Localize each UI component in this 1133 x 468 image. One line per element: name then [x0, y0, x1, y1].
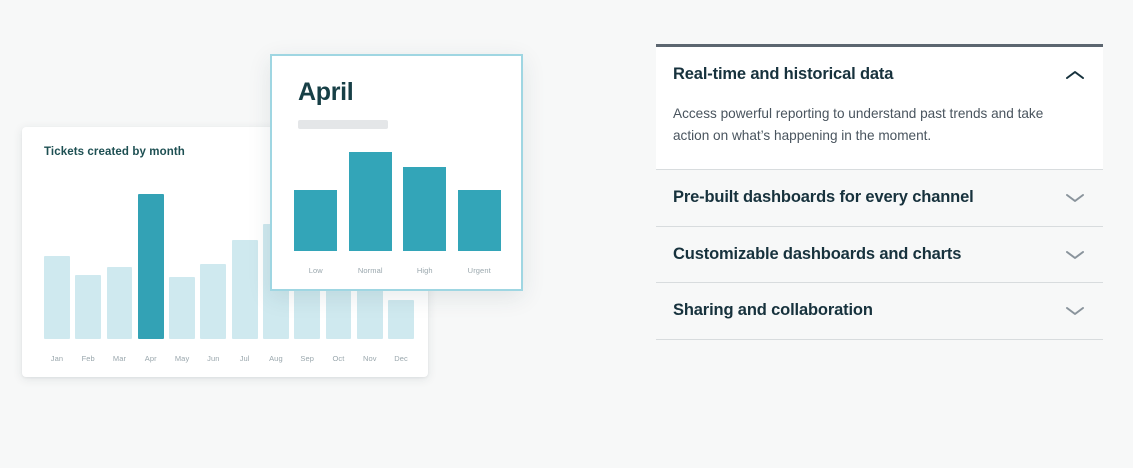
axis-label-apr: Apr [138, 354, 164, 363]
bar-jun [200, 264, 226, 339]
accordion-title: Pre-built dashboards for every channel [673, 188, 974, 208]
axis-label-mar: Mar [107, 354, 133, 363]
axis-label-normal: Normal [349, 266, 392, 275]
bar-slot [169, 187, 195, 339]
accordion-header-4[interactable]: Sharing and collaboration [656, 283, 1103, 339]
feature-accordion: Real-time and historical dataAccess powe… [656, 44, 1103, 340]
accordion-title: Customizable dashboards and charts [673, 245, 961, 265]
accordion-header-1[interactable]: Real-time and historical data [656, 47, 1103, 103]
axis-label-dec: Dec [388, 354, 414, 363]
axis-label-oct: Oct [326, 354, 352, 363]
accordion-item-1: Real-time and historical dataAccess powe… [656, 47, 1103, 170]
axis-label-urgent: Urgent [458, 266, 501, 275]
charts-illustration: Tickets created by month JanFebMarAprMay… [0, 0, 600, 468]
axis-label-jun: Jun [200, 354, 226, 363]
bar-slot [107, 187, 133, 339]
april-card-title: April [298, 80, 353, 105]
accordion-item-2: Pre-built dashboards for every channel [656, 170, 1103, 227]
axis-label-feb: Feb [75, 354, 101, 363]
chevron-down-icon[interactable] [1065, 192, 1085, 204]
bar-high [403, 167, 446, 251]
bar-feb [75, 275, 101, 339]
bar-slot [75, 187, 101, 339]
chevron-up-icon[interactable] [1065, 69, 1085, 81]
accordion-header-2[interactable]: Pre-built dashboards for every channel [656, 170, 1103, 226]
bar-slot [232, 187, 258, 339]
april-priority-bars [294, 144, 501, 251]
axis-label-low: Low [294, 266, 337, 275]
accordion-body: Access powerful reporting to understand … [656, 103, 1103, 169]
axis-label-high: High [403, 266, 446, 275]
bar-slot [44, 187, 70, 339]
tickets-by-month-title: Tickets created by month [44, 146, 185, 158]
april-breakdown-card: April LowNormalHighUrgent [270, 54, 523, 291]
bar-jul [232, 240, 258, 339]
bar-apr [138, 194, 164, 339]
accordion-header-3[interactable]: Customizable dashboards and charts [656, 227, 1103, 283]
bar-low [294, 190, 337, 251]
tickets-by-month-axis-labels: JanFebMarAprMayJunJulAugSepOctNovDec [44, 354, 414, 363]
bar-normal [349, 152, 392, 251]
axis-label-jan: Jan [44, 354, 70, 363]
bar-slot [294, 144, 337, 251]
accordion-item-list: Real-time and historical dataAccess powe… [656, 47, 1103, 340]
accordion-title: Real-time and historical data [673, 65, 893, 85]
april-priority-axis-labels: LowNormalHighUrgent [294, 266, 501, 275]
bar-slot [200, 187, 226, 339]
axis-label-may: May [169, 354, 195, 363]
bar-slot [138, 187, 164, 339]
axis-label-nov: Nov [357, 354, 383, 363]
accordion-item-3: Customizable dashboards and charts [656, 227, 1103, 284]
bar-mar [107, 267, 133, 339]
chevron-down-icon[interactable] [1065, 305, 1085, 317]
axis-label-aug: Aug [263, 354, 289, 363]
accordion-title: Sharing and collaboration [673, 301, 873, 321]
bar-dec [388, 300, 414, 339]
accordion-item-4: Sharing and collaboration [656, 283, 1103, 340]
bar-urgent [458, 190, 501, 251]
axis-label-sep: Sep [294, 354, 320, 363]
bar-may [169, 277, 195, 339]
april-subtitle-placeholder [298, 120, 388, 129]
axis-label-jul: Jul [232, 354, 258, 363]
bar-slot [349, 144, 392, 251]
april-priority-chart: LowNormalHighUrgent [294, 144, 501, 275]
chevron-down-icon[interactable] [1065, 249, 1085, 261]
bar-slot [458, 144, 501, 251]
bar-slot [403, 144, 446, 251]
bar-jan [44, 256, 70, 339]
